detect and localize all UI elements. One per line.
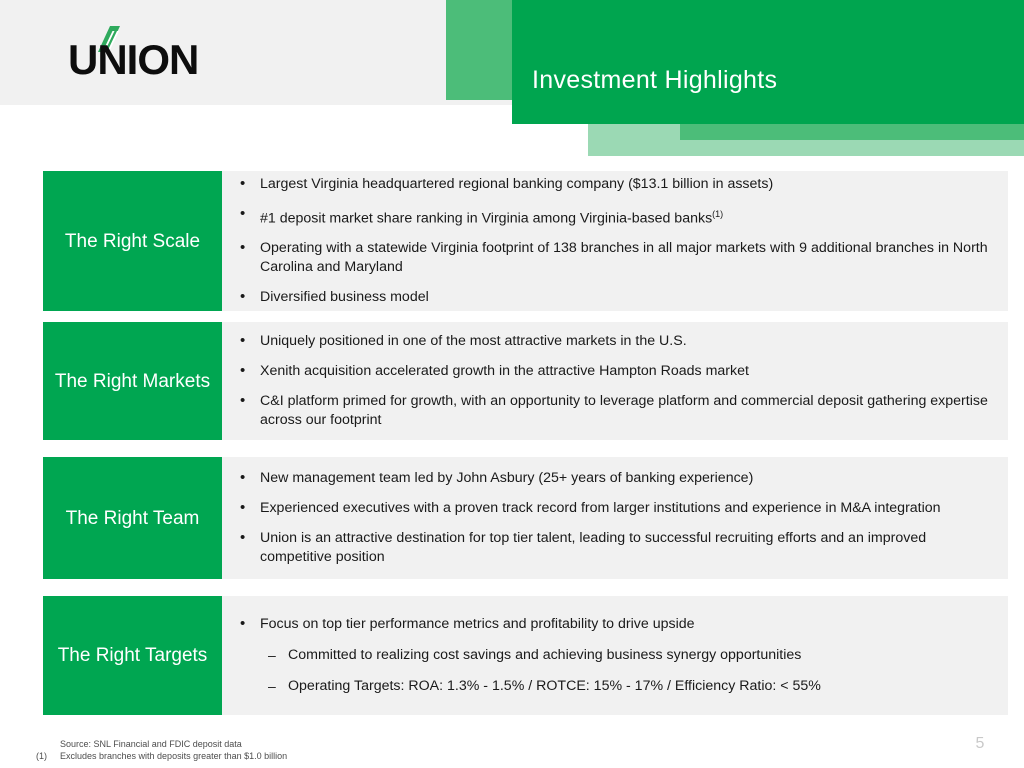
bullet-text: Largest Virginia headquartered regional … (260, 176, 773, 192)
section-panel: Focus on top tier performance metrics an… (222, 596, 1008, 715)
bullet-text: Union is an attractive destination for t… (260, 530, 926, 565)
bullet-text: Focus on top tier performance metrics an… (260, 616, 695, 632)
footnote-text: Excludes branches with deposits greater … (60, 751, 287, 761)
section-panel: New management team led by John Asbury (… (222, 457, 1008, 579)
section-row: The Right Scale Largest Virginia headqua… (43, 171, 1008, 311)
section-label: The Right Markets (43, 322, 222, 440)
bullet-text: Experienced executives with a proven tra… (260, 500, 941, 516)
footnote-marker: (1) (36, 751, 47, 761)
page-number: 5 (960, 735, 1000, 753)
bullet-item: Union is an attractive destination for t… (236, 529, 994, 567)
bullet-item: #1 deposit market share ranking in Virgi… (236, 205, 994, 229)
section-label: The Right Scale (43, 171, 222, 311)
bullet-text: Committed to realizing cost savings and … (288, 647, 801, 663)
section-row: The Right Markets Uniquely positioned in… (43, 322, 1008, 440)
bullet-text: Diversified business model (260, 289, 429, 305)
bullet-text: Xenith acquisition accelerated growth in… (260, 363, 749, 379)
bullet-text: #1 deposit market share ranking in Virgi… (260, 210, 712, 226)
section-row: The Right Targets Focus on top tier perf… (43, 596, 1008, 715)
section-label: The Right Team (43, 457, 222, 579)
footnote-ref: (1) (712, 209, 723, 219)
sub-bullet-item: Operating Targets: ROA: 1.3% - 1.5% / RO… (236, 677, 994, 696)
bullet-text: Uniquely positioned in one of the most a… (260, 333, 687, 349)
bullet-text: Operating with a statewide Virginia foot… (260, 240, 988, 275)
content-rows: The Right Scale Largest Virginia headqua… (0, 0, 1024, 768)
bullet-text: New management team led by John Asbury (… (260, 470, 753, 486)
source-note: Source: SNL Financial and FDIC deposit d… (60, 739, 242, 749)
bullet-item: Uniquely positioned in one of the most a… (236, 332, 994, 351)
bullet-text: C&I platform primed for growth, with an … (260, 393, 988, 428)
bullet-item: Xenith acquisition accelerated growth in… (236, 362, 994, 381)
bullet-item: C&I platform primed for growth, with an … (236, 392, 994, 430)
bullet-item: Experienced executives with a proven tra… (236, 499, 994, 518)
bullet-item: Operating with a statewide Virginia foot… (236, 239, 994, 277)
sub-bullet-item: Committed to realizing cost savings and … (236, 646, 994, 665)
bullet-item: Largest Virginia headquartered regional … (236, 175, 994, 194)
bullet-item: Focus on top tier performance metrics an… (236, 615, 994, 634)
section-panel: Largest Virginia headquartered regional … (222, 171, 1008, 311)
bullet-item: New management team led by John Asbury (… (236, 469, 994, 488)
bullet-text: Operating Targets: ROA: 1.3% - 1.5% / RO… (288, 678, 821, 694)
section-row: The Right Team New management team led b… (43, 457, 1008, 579)
bullet-item: Diversified business model (236, 288, 994, 307)
section-panel: Uniquely positioned in one of the most a… (222, 322, 1008, 440)
section-label: The Right Targets (43, 596, 222, 715)
